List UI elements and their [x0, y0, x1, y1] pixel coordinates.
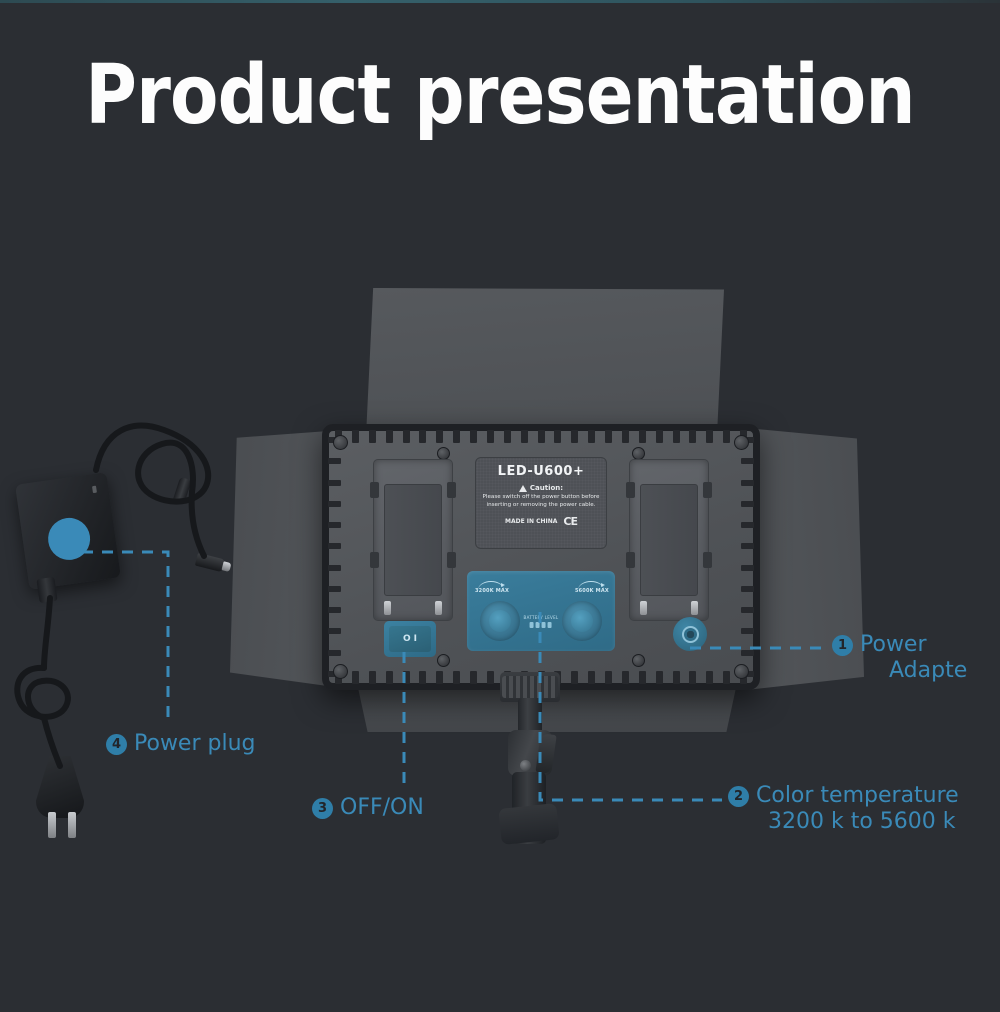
ac-cable-lower — [44, 718, 60, 766]
callout-power-adapter: 1Power Adapte — [832, 632, 967, 684]
callout-number-3: 3 — [312, 798, 333, 819]
callout-1-line1: Power — [860, 632, 927, 657]
callout-number-2: 2 — [728, 786, 749, 807]
callout-2-line1: Color temperature — [756, 783, 959, 808]
callout-4-line1: Power plug — [134, 731, 256, 756]
product-presentation-canvas: Product presentation — [0, 0, 1000, 1012]
callout-2-line2: 3200 k to 5600 k — [768, 809, 959, 835]
dc-cable-tail — [192, 492, 204, 556]
callout-number-1: 1 — [832, 635, 853, 656]
callout-1-line2: Adapte — [889, 658, 967, 684]
ac-cable-coil — [17, 668, 68, 718]
callout-off-on: 3OFF/ON — [312, 795, 424, 821]
callout-power-plug: 4Power plug — [106, 731, 256, 757]
wires-and-leader-lines — [0, 0, 1000, 1012]
callout-3-line1: OFF/ON — [340, 795, 424, 820]
callout-number-4: 4 — [106, 734, 127, 755]
callout-color-temperature: 2Color temperature 3200 k to 5600 k — [728, 783, 959, 835]
ac-cable-upper — [44, 598, 50, 668]
leader-line-power-adapter-to-4 — [82, 552, 168, 720]
leader-line-control-panel-to-2 — [540, 612, 722, 800]
